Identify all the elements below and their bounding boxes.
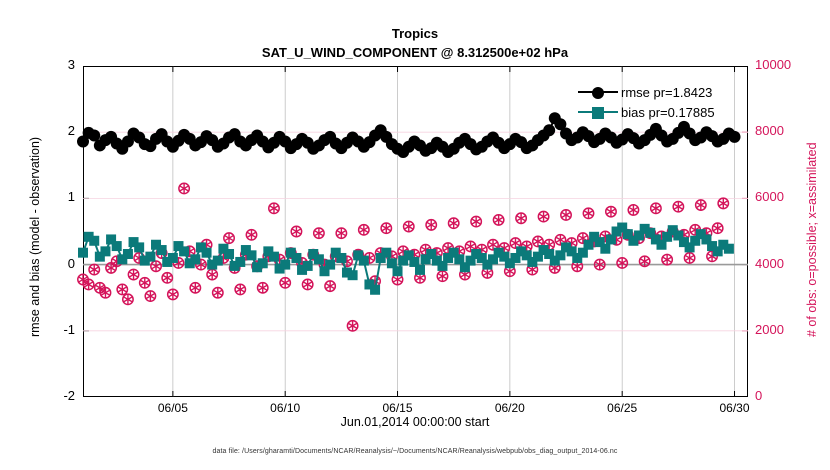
x-tick-label: 06/15 xyxy=(368,401,428,415)
legend-item-rmse: rmse pr=1.8423 xyxy=(578,82,715,102)
y-tick-label-left: 2 xyxy=(45,123,75,138)
x-tick-label: 06/05 xyxy=(143,401,203,415)
legend-label-rmse: rmse pr=1.8423 xyxy=(621,85,712,100)
x-axis-label: Jun.01,2014 00:00:00 start xyxy=(0,415,830,429)
y-tick-label-left: 3 xyxy=(45,57,75,72)
x-tick-label: 06/30 xyxy=(705,401,765,415)
x-tick-label: 06/25 xyxy=(592,401,652,415)
chart-legend: rmse pr=1.8423 bias pr=0.17885 xyxy=(578,82,715,122)
data-file-footer: data file: /Users/gharamti/Documents/NCA… xyxy=(0,448,830,455)
x-tick-label: 06/10 xyxy=(255,401,315,415)
legend-label-bias: bias pr=0.17885 xyxy=(621,105,715,120)
y-tick-label-left: -1 xyxy=(45,322,75,337)
plot-svg xyxy=(0,0,830,470)
y-tick-label-left: 0 xyxy=(45,256,75,271)
legend-marker-bias xyxy=(578,104,618,120)
y-tick-label-right: 2000 xyxy=(755,322,801,337)
y-tick-label-right: 8000 xyxy=(755,123,801,138)
y-tick-label-left: -2 xyxy=(45,388,75,403)
y-tick-label-right: 6000 xyxy=(755,189,801,204)
x-tick-label: 06/20 xyxy=(480,401,540,415)
y-tick-label-right: 4000 xyxy=(755,256,801,271)
y-axis-left-label: rmse and bias (model - observation) xyxy=(28,136,42,336)
figure-canvas: Tropics SAT_U_WIND_COMPONENT @ 8.312500e… xyxy=(0,0,830,470)
y-tick-label-left: 1 xyxy=(45,189,75,204)
y-axis-right-label: # of obs: o=possible; x=assimilated xyxy=(805,142,819,337)
legend-item-bias: bias pr=0.17885 xyxy=(578,102,715,122)
legend-marker-rmse xyxy=(578,84,618,100)
bias-markers xyxy=(78,223,734,295)
y-tick-label-right: 10000 xyxy=(755,57,801,72)
